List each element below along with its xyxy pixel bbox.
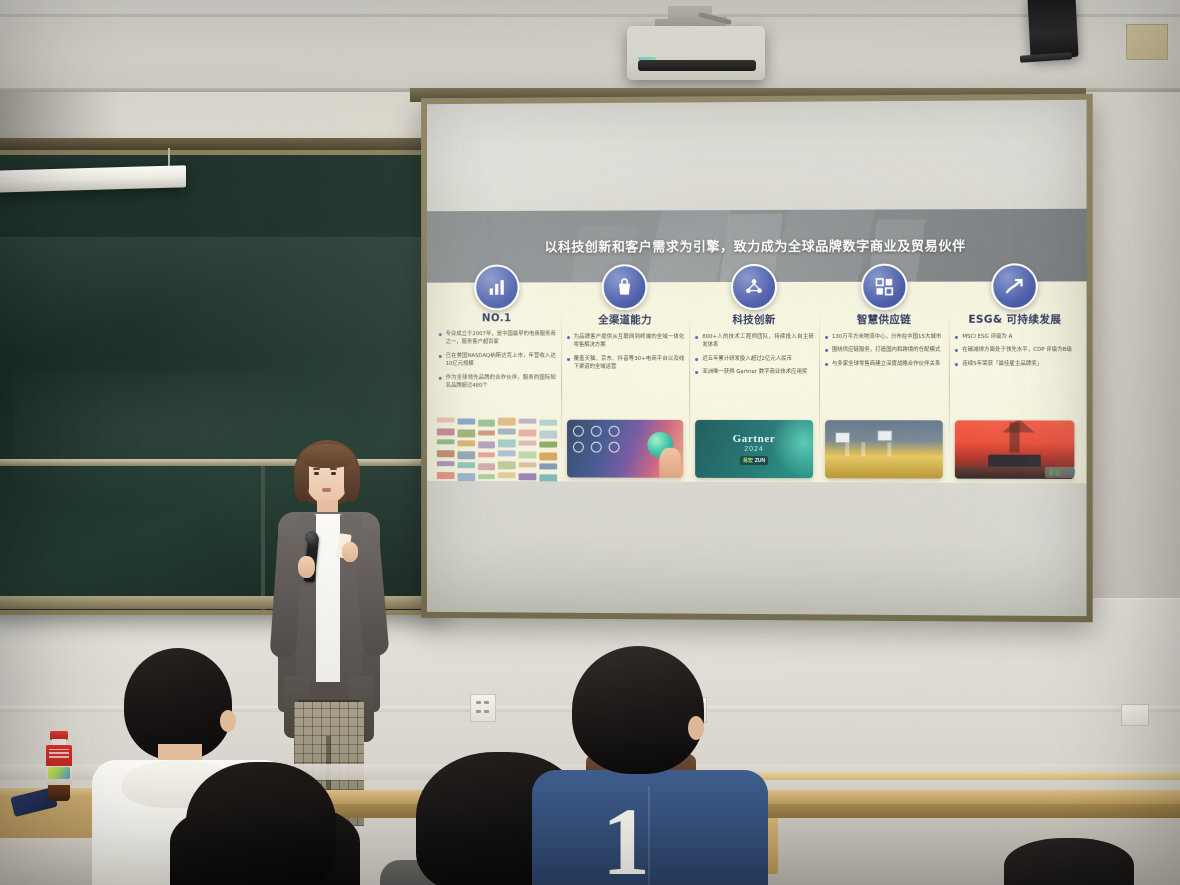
student-ear [220, 710, 236, 732]
presenter-fringe [301, 444, 353, 468]
blackboard-glare [0, 237, 439, 355]
wall-outlet-right[interactable] [1121, 704, 1149, 726]
gartner-award-card: Gartner 2024 易宏 ZUN [695, 420, 813, 478]
outlet-slot [476, 701, 481, 704]
bullet-item: 围绕供应链服务，打造国内和跨境的仓配模式 [824, 346, 944, 354]
client-logo [457, 419, 474, 425]
screen-blank-area-top [427, 100, 1087, 216]
client-brand-logos [435, 416, 559, 480]
column-bullets: 为品牌客户提供从互联网到终端的全域一体化零售解决方案 覆盖天猫、京东、抖音等30… [566, 333, 685, 371]
presenter-mouth [322, 488, 331, 492]
client-logo [478, 420, 496, 427]
projector-lens-bar [638, 60, 756, 71]
client-logo [478, 452, 496, 457]
column-bullets: 130万平方米物流中心，分布在中国15大城市 围绕供应链服务，打造国内和跨境的仓… [824, 333, 944, 368]
tech-node [573, 442, 584, 453]
slide-column-technology: 科技创新 800+人的技术工程师团队，持续投入自主研发体系 近五年累计研发投入超… [689, 286, 818, 482]
slide-column-no1: NO.1 专业成立于2007年，是中国最早的电商服务商之一，服务客户超百家 已在… [433, 286, 561, 481]
client-logo [539, 452, 557, 460]
projected-slide: 以科技创新和客户需求为引擎，致力成为全球品牌数字商业及贸易伙伴 NO.1 专业成… [427, 209, 1087, 483]
badge-mark: 易宏 [743, 457, 753, 464]
wall-speaker [1027, 0, 1078, 59]
client-logo [437, 450, 454, 457]
warehouse-rack [861, 442, 865, 456]
desk-left-panel [0, 838, 106, 885]
presenter-hand-right [342, 542, 358, 562]
ceiling-seam [0, 14, 1180, 17]
client-logo [498, 418, 516, 426]
student-partial [986, 838, 1180, 885]
student-head [1004, 838, 1134, 885]
student-head [186, 762, 336, 885]
client-logo [539, 431, 557, 439]
client-logo [457, 473, 474, 481]
bottle-contents [48, 785, 70, 801]
screen-surface: 以科技创新和客户需求为引擎，致力成为全球品牌数字商业及贸易伙伴 NO.1 专业成… [427, 100, 1087, 616]
client-logo [478, 430, 496, 435]
wall-outlet[interactable] [470, 694, 496, 722]
card-wave-graphic [767, 420, 813, 478]
screen-blank-area-bottom [427, 541, 1087, 616]
slide-column-supply-chain: 智慧供应链 130万平方米物流中心，分布在中国15大城市 围绕供应链服务，打造国… [819, 286, 949, 483]
bullet-item: 覆盖天猫、京东、抖音等30+电商平台以及线下渠道的全域运营 [566, 355, 685, 372]
client-logo [437, 439, 454, 444]
warehouse-rack [845, 442, 849, 456]
blackboard-panel-seam [261, 466, 265, 610]
client-logo [498, 439, 516, 447]
column-bullets: 800+人的技术工程师团队，持续投入自主研发体系 近五年累计研发投入超过2亿元人… [694, 333, 814, 377]
bullet-item: MSCI ESG 评级为 A [954, 333, 1075, 341]
presenter-hand-left [298, 556, 315, 578]
outlet-slot [476, 710, 481, 713]
client-logo [539, 463, 557, 469]
client-logo [478, 474, 496, 479]
column-heading: 科技创新 [694, 312, 814, 327]
client-logo [437, 428, 454, 435]
presenter-eyebrow [313, 468, 320, 470]
gartner-badge: 易宏 ZUN [740, 456, 768, 465]
client-logo [457, 462, 474, 468]
gartner-year: 2024 [744, 446, 764, 453]
student-head [572, 646, 704, 774]
client-logo [498, 472, 516, 478]
column-heading: ESG& 可持续发展 [954, 312, 1075, 327]
bullet-item: 800+人的技术工程师团队，持续投入自主研发体系 [694, 333, 814, 350]
slide-column-omnichannel: 全渠道能力 为品牌客户提供从互联网到终端的全域一体化零售解决方案 覆盖天猫、京东… [561, 286, 690, 482]
client-logo [437, 418, 454, 423]
slide-title: 以科技创新和客户需求为引擎，致力成为全球品牌数字商业及贸易伙伴 [427, 235, 1087, 256]
column-bullets: MSCI ESG 评级为 A 在碳减排方面处于领先水平，CDP 评级为B级 连续… [954, 333, 1075, 368]
column-heading: 全渠道能力 [566, 312, 685, 327]
client-logo [519, 440, 537, 445]
client-logo [519, 419, 537, 424]
column-heading: NO.1 [438, 312, 556, 324]
bullet-item: 已在美国NASDAQ纳斯达克上市，年营收入达10亿元规模 [438, 352, 556, 369]
client-logo [498, 461, 516, 469]
badge-word: ZUN [755, 458, 765, 464]
bullet-item: 连续5年荣获「最佳雇主品牌奖」 [954, 360, 1075, 368]
tech-node-grid [573, 426, 620, 453]
column-heading: 智慧供应链 [824, 312, 944, 327]
classroom-presentation-photo: 以科技创新和客户需求为引擎，致力成为全球品牌数字商业及贸易伙伴 NO.1 专业成… [0, 0, 1180, 885]
slide-footer-logo: 易宏 ZUN [1045, 467, 1078, 478]
client-logo [498, 429, 516, 435]
automated-warehouse [825, 420, 943, 478]
projection-screen: 以科技创新和客户需求为引擎，致力成为全球品牌数字商业及贸易伙伴 NO.1 专业成… [421, 94, 1093, 623]
jacket-number: 1 [602, 794, 650, 885]
client-logo [519, 430, 537, 437]
warehouse-rack [887, 442, 891, 456]
ceiling-projector [627, 26, 765, 80]
bullet-item: 130万平方米物流中心，分布在中国15大城市 [824, 333, 944, 341]
footer-logo-word: ZUN [1063, 469, 1076, 475]
tech-node [608, 426, 619, 437]
student-long-dark-hair [146, 762, 396, 885]
bullet-item: 在碳减排方面处于领先水平，CDP 评级为B级 [954, 346, 1075, 354]
client-logo [539, 474, 557, 482]
sunset-tower [1010, 422, 1020, 452]
footer-logo-mark: 易宏 [1048, 468, 1061, 477]
warehouse-monitor [877, 430, 892, 441]
client-logo [478, 441, 496, 448]
outlet-slot [484, 701, 489, 704]
presenter-eye [314, 472, 319, 475]
bullet-item: 为品牌客户提供从互联网到终端的全域一体化零售解决方案 [566, 333, 685, 350]
client-logo [437, 472, 454, 479]
upward-arrow-icon [991, 263, 1038, 309]
bullet-item: 与多家全球零售商建立深度战略合作伙伴关系 [824, 360, 944, 368]
tech-node [590, 442, 601, 453]
client-logo [437, 461, 454, 466]
presenter-eye [331, 472, 336, 475]
client-logo [519, 451, 537, 458]
bullet-item: 专业成立于2007年，是中国最早的电商服务商之一，服务客户超百家 [438, 330, 556, 347]
hand-graphic [659, 448, 681, 478]
bullet-item: 作为全球领先品牌的合作伙伴，服务的国际知名品牌超过480个 [438, 373, 556, 390]
client-logo [539, 442, 557, 448]
outlet-slot [484, 710, 489, 713]
warehouse-floor [825, 455, 943, 479]
column-bullets: 专业成立于2007年，是中国最早的电商服务商之一，服务客户超百家 已在美国NAS… [438, 330, 556, 390]
tech-node [608, 442, 619, 453]
denim-jacket [532, 770, 768, 885]
wall-access-panel [1126, 24, 1168, 60]
client-logo [498, 450, 516, 456]
slide-column-esg: ESG& 可持续发展 MSCI ESG 评级为 A 在碳减排方面处于领先水平，C… [949, 285, 1080, 483]
client-logo [457, 429, 474, 437]
tech-node [573, 426, 584, 437]
bar-chart-icon [474, 265, 519, 311]
digital-technology-globe [567, 420, 684, 478]
presenter-eyebrow [330, 468, 337, 470]
tech-node [590, 426, 601, 437]
student-ear [688, 716, 704, 740]
client-logo [539, 420, 557, 426]
student-blue-denim-jacket: 1 [528, 646, 778, 885]
network-nodes-icon [731, 264, 777, 310]
client-logo [457, 440, 474, 446]
shopping-bag-icon [602, 264, 648, 310]
red-beverage-bottle[interactable] [46, 731, 72, 801]
bullet-item: 亚洲唯一获得 Gartner 数字商业技术应用奖 [694, 368, 814, 376]
client-logo [457, 451, 474, 459]
bottle-label-text [49, 749, 69, 758]
slide-columns: NO.1 专业成立于2007年，是中国最早的电商服务商之一，服务客户超百家 已在… [427, 285, 1087, 483]
client-logo [519, 462, 537, 467]
supply-chain-icon [861, 264, 907, 310]
client-logo [478, 463, 496, 470]
bottle-label-graphic [48, 767, 70, 779]
bullet-item: 近五年累计研发投入超过2亿元人民币 [694, 355, 814, 363]
client-logo [519, 473, 537, 480]
